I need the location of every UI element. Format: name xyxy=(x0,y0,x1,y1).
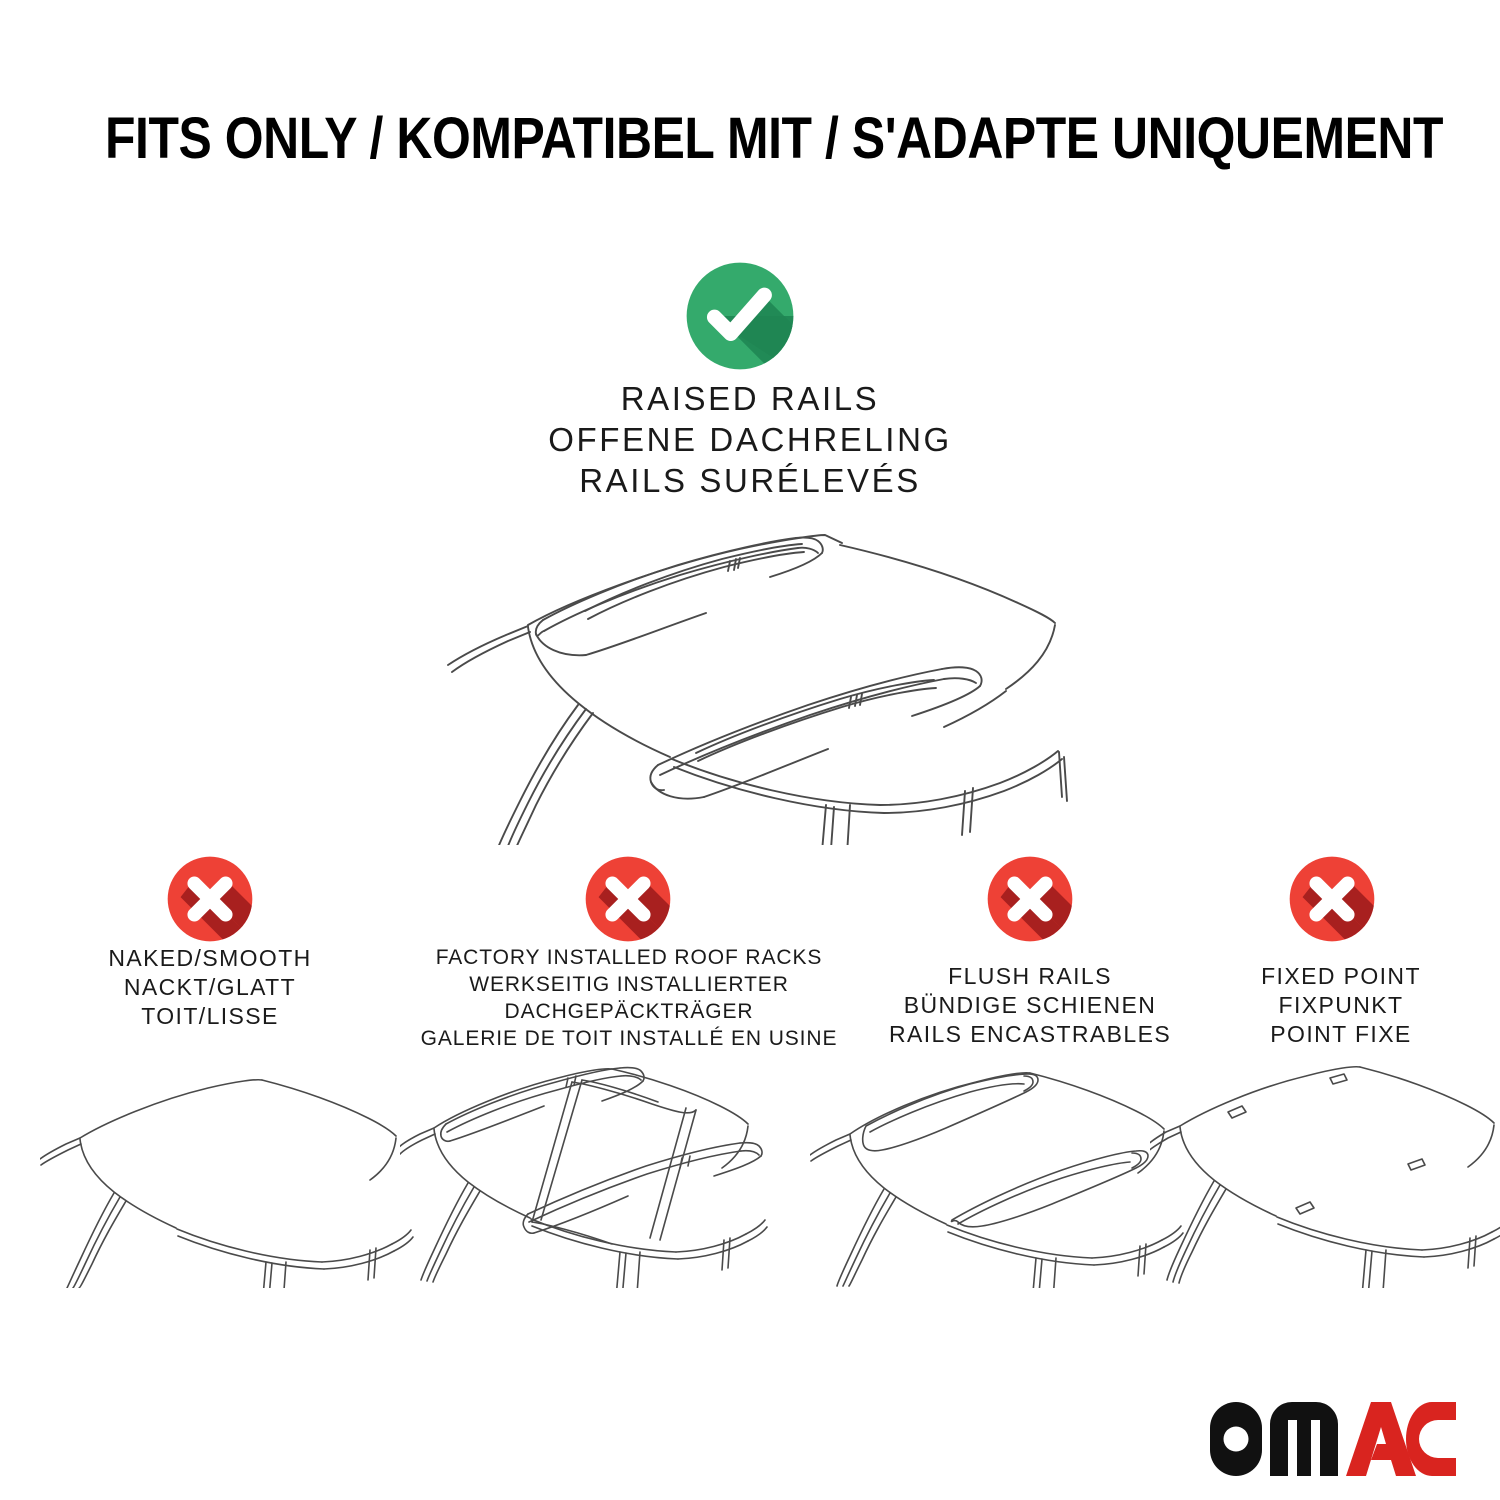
fitment-infographic: FITS ONLY / KOMPATIBEL MIT / S'ADAPTE UN… xyxy=(0,0,1500,1500)
cross-circle-icon xyxy=(984,853,1076,945)
car-roof-fixed-point-illustration xyxy=(1150,1056,1500,1288)
caption-line: RAILS SURÉLEVÉS xyxy=(250,460,1250,501)
page-title: FITS ONLY / KOMPATIBEL MIT / S'ADAPTE UN… xyxy=(105,105,1395,172)
logo-letter-c xyxy=(1406,1402,1456,1476)
caption-line: TOIT/LISSE xyxy=(35,1002,385,1031)
caption-fixed-point: FIXED POINT FIXPUNKT POINT FIXE xyxy=(1196,962,1486,1049)
caption-line: RAISED RAILS xyxy=(250,378,1250,419)
caption-line: FIXPUNKT xyxy=(1196,991,1486,1020)
caption-line: OFFENE DACHRELING xyxy=(250,419,1250,460)
caption-line: GALERIE DE TOIT INSTALLÉ EN USINE xyxy=(398,1025,860,1052)
caption-line: WERKSEITIG INSTALLIERTER xyxy=(398,971,860,998)
caption-raised-rails: RAISED RAILS OFFENE DACHRELING RAILS SUR… xyxy=(250,378,1250,501)
omac-logo xyxy=(1208,1400,1458,1478)
logo-letter-m xyxy=(1270,1402,1338,1476)
caption-line: BÜNDIGE SCHIENEN xyxy=(860,991,1200,1020)
logo-letter-a xyxy=(1346,1402,1416,1476)
car-roof-factory-racks-illustration xyxy=(400,1056,800,1288)
caption-line: DACHGEPÄCKTRÄGER xyxy=(398,998,860,1025)
car-roof-naked-smooth-illustration xyxy=(40,1058,430,1288)
caption-line: NAKED/SMOOTH xyxy=(35,944,385,973)
logo-letter-o xyxy=(1210,1402,1262,1476)
caption-line: FIXED POINT xyxy=(1196,962,1486,991)
caption-flush-rails: FLUSH RAILS BÜNDIGE SCHIENEN RAILS ENCAS… xyxy=(860,962,1200,1049)
caption-line: POINT FIXE xyxy=(1196,1020,1486,1049)
caption-line: RAILS ENCASTRABLES xyxy=(860,1020,1200,1049)
caption-line: NACKT/GLATT xyxy=(35,973,385,1002)
caption-line: FLUSH RAILS xyxy=(860,962,1200,991)
car-roof-raised-rails-illustration xyxy=(410,505,1100,845)
check-circle-icon xyxy=(682,258,798,374)
cross-circle-icon xyxy=(1286,853,1378,945)
caption-naked-smooth: NAKED/SMOOTH NACKT/GLATT TOIT/LISSE xyxy=(35,944,385,1031)
caption-line: FACTORY INSTALLED ROOF RACKS xyxy=(398,944,860,971)
cross-circle-icon xyxy=(164,853,256,945)
cross-circle-icon xyxy=(582,853,674,945)
caption-factory-racks: FACTORY INSTALLED ROOF RACKS WERKSEITIG … xyxy=(398,944,860,1052)
